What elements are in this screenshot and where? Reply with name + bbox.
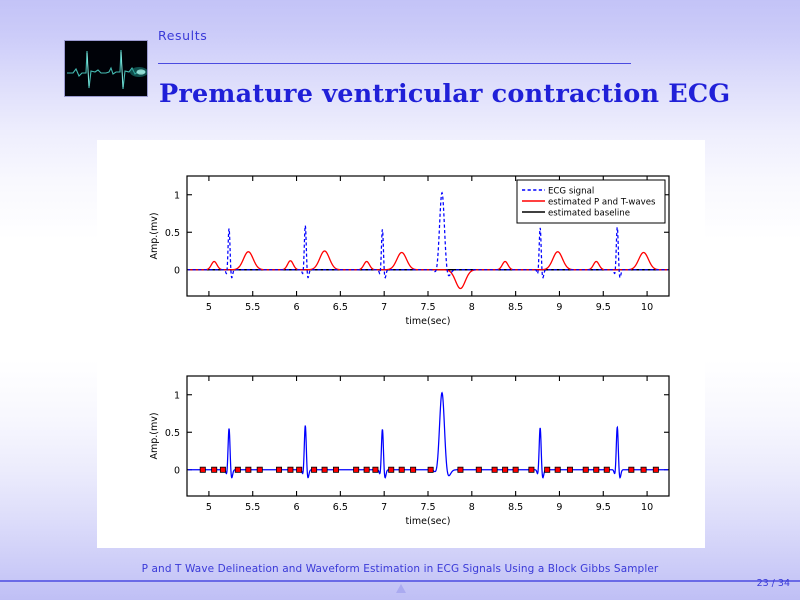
- delineation-marker: [246, 467, 251, 472]
- delineation-marker: [364, 467, 369, 472]
- x-tick-label: 5: [206, 302, 212, 313]
- x-tick-label: 8: [469, 302, 475, 313]
- x-tick-label: 8: [469, 502, 475, 513]
- footer-divider: [0, 580, 800, 582]
- header-divider: [158, 63, 631, 64]
- x-tick-label: 7.5: [420, 302, 435, 313]
- delineation-marker: [545, 467, 550, 472]
- delineation-marker: [458, 467, 463, 472]
- chart-pvc-ecg-decomposition: 55.566.577.588.599.51000.51time(sec)Amp.…: [97, 148, 705, 348]
- legend-label: estimated P and T-waves: [548, 197, 656, 207]
- delineation-marker: [220, 467, 225, 472]
- delineation-marker: [276, 467, 281, 472]
- delineation-marker: [503, 467, 508, 472]
- x-tick-label: 6.5: [333, 502, 348, 513]
- x-tick-label: 10: [641, 302, 653, 313]
- y-axis-label: Amp.(mv): [149, 412, 160, 459]
- x-tick-label: 10: [641, 502, 653, 513]
- delineation-marker: [322, 467, 327, 472]
- delineation-marker: [399, 467, 404, 472]
- delineation-marker: [257, 467, 262, 472]
- delineation-marker: [200, 467, 205, 472]
- delineation-marker: [389, 467, 394, 472]
- x-tick-label: 6: [294, 502, 300, 513]
- page-title: Premature ventricular contraction ECG: [159, 79, 730, 109]
- y-tick-label: 1: [174, 390, 180, 401]
- footer-marker-icon: [396, 584, 406, 593]
- x-tick-label: 7: [381, 502, 387, 513]
- x-tick-label: 5.5: [245, 502, 260, 513]
- delineation-marker: [428, 467, 433, 472]
- y-tick-label: 0.5: [165, 428, 180, 439]
- y-tick-label: 1: [174, 190, 180, 201]
- delineation-marker: [297, 467, 302, 472]
- chart-pvc-ecg-delineation: 55.566.577.588.599.51000.51time(sec)Amp.…: [97, 348, 705, 548]
- legend-label: estimated baseline: [548, 208, 630, 218]
- y-tick-label: 0: [174, 265, 180, 276]
- x-axis-label: time(sec): [406, 516, 451, 527]
- delineation-marker: [373, 467, 378, 472]
- x-tick-label: 9.5: [596, 502, 611, 513]
- x-tick-label: 9.5: [596, 302, 611, 313]
- x-tick-label: 8.5: [508, 502, 523, 513]
- footer-paper-title: P and T Wave Delineation and Waveform Es…: [0, 563, 800, 575]
- delineation-marker: [604, 467, 609, 472]
- x-axis-label: time(sec): [406, 316, 451, 327]
- delineation-marker: [583, 467, 588, 472]
- delineation-marker: [411, 467, 416, 472]
- delineation-marker: [513, 467, 518, 472]
- delineation-marker: [212, 467, 217, 472]
- x-tick-label: 6.5: [333, 302, 348, 313]
- x-tick-label: 8.5: [508, 302, 523, 313]
- delineation-marker: [311, 467, 316, 472]
- x-tick-label: 7: [381, 302, 387, 313]
- delineation-marker: [629, 467, 634, 472]
- x-tick-label: 5.5: [245, 302, 260, 313]
- x-tick-label: 5: [206, 502, 212, 513]
- page-number: 23 / 34: [757, 578, 790, 589]
- y-tick-label: 0.5: [165, 228, 180, 239]
- delineation-marker: [594, 467, 599, 472]
- x-tick-label: 7.5: [420, 502, 435, 513]
- delineation-marker: [354, 467, 359, 472]
- delineation-marker: [653, 467, 658, 472]
- figure-panel: 55.566.577.588.599.51000.51time(sec)Amp.…: [97, 140, 705, 548]
- slide-header: Results Premature ventricular contractio…: [0, 0, 800, 130]
- ecg-waveform-logo-icon: [64, 40, 148, 97]
- legend-label: ECG signal: [548, 186, 594, 196]
- x-tick-label: 9: [556, 302, 562, 313]
- section-label: Results: [158, 28, 207, 43]
- delineation-marker: [288, 467, 293, 472]
- y-tick-label: 0: [174, 465, 180, 476]
- delineation-marker: [333, 467, 338, 472]
- delineation-marker: [567, 467, 572, 472]
- series-ecg-signal: [187, 393, 669, 478]
- delineation-marker: [555, 467, 560, 472]
- delineation-marker: [641, 467, 646, 472]
- x-tick-label: 9: [556, 502, 562, 513]
- y-axis-label: Amp.(mv): [149, 212, 160, 259]
- delineation-marker: [529, 467, 534, 472]
- delineation-marker: [476, 467, 481, 472]
- plot-frame: [187, 376, 669, 496]
- delineation-marker: [235, 467, 240, 472]
- x-tick-label: 6: [294, 302, 300, 313]
- delineation-marker: [492, 467, 497, 472]
